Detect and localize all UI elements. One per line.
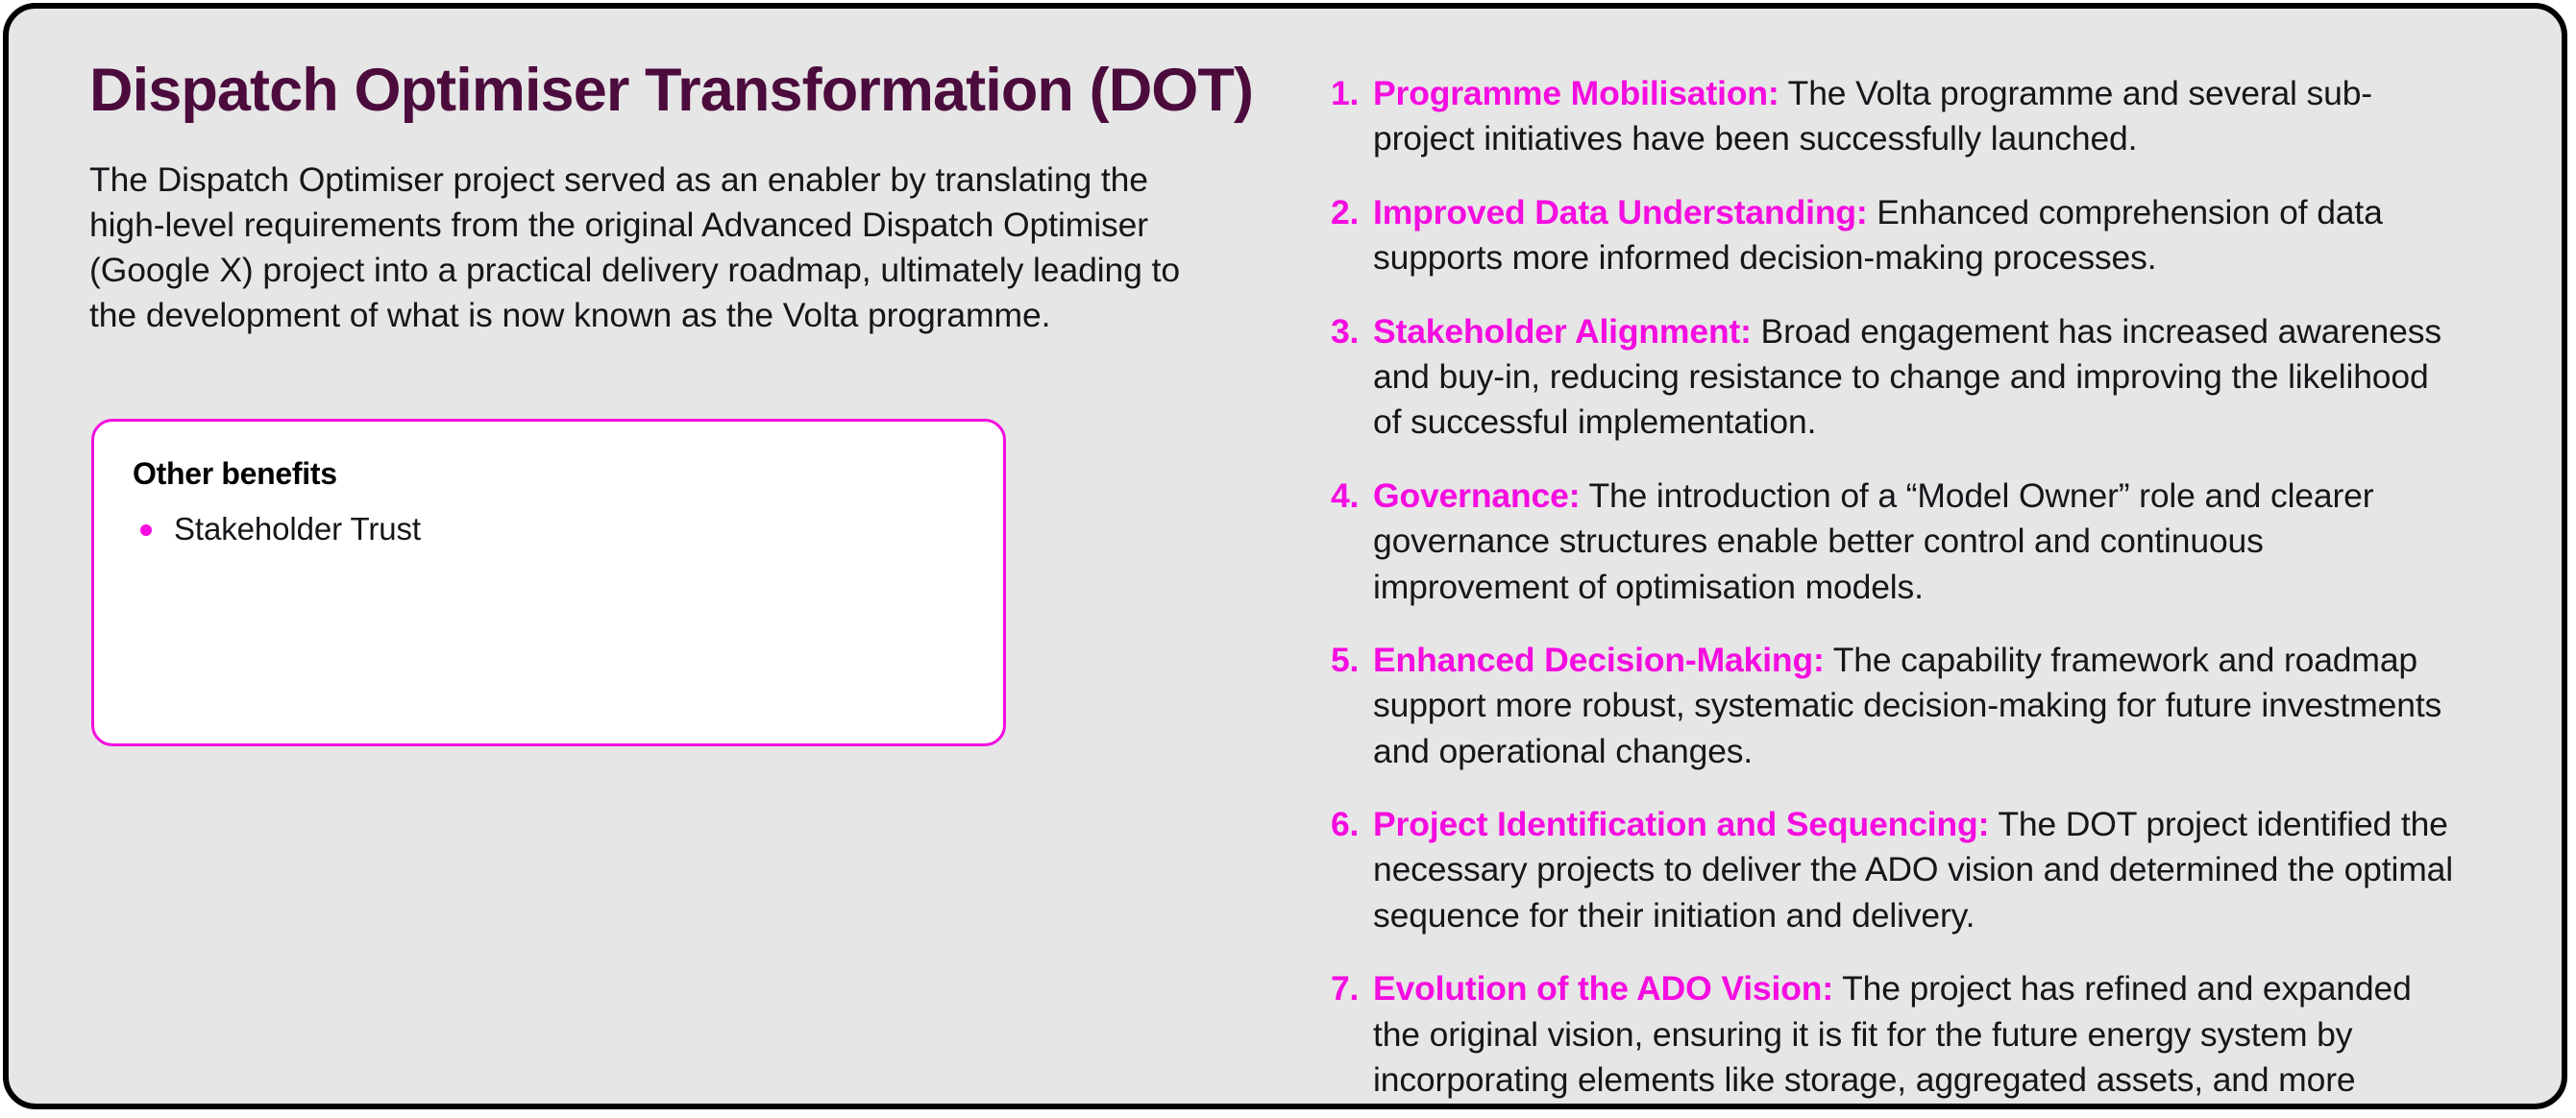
- list-item: 5. Enhanced Decision-Making: The capabil…: [1331, 638, 2466, 774]
- list-item-number: 3.: [1331, 309, 1373, 354]
- findings-list: 1. Programme Mobilisation: The Volta pro…: [1331, 71, 2466, 1109]
- list-item-label: Stakeholder Trust: [174, 511, 421, 547]
- list-item-text: Enhanced Decision-Making: The capability…: [1373, 638, 2466, 774]
- slide-body: Dispatch Optimiser Transformation (DOT) …: [9, 9, 2562, 1104]
- left-column: Dispatch Optimiser Transformation (DOT) …: [9, 9, 1306, 746]
- list-item-lead: Stakeholder Alignment:: [1373, 312, 1752, 351]
- list-item-text: Governance: The introduction of a “Model…: [1373, 474, 2466, 610]
- list-item: 7. Evolution of the ADO Vision: The proj…: [1331, 966, 2466, 1109]
- list-item: 2. Improved Data Understanding: Enhanced…: [1331, 190, 2466, 281]
- list-item: 1. Programme Mobilisation: The Volta pro…: [1331, 71, 2466, 162]
- list-item-text: Evolution of the ADO Vision: The project…: [1373, 966, 2466, 1109]
- slide-frame: Dispatch Optimiser Transformation (DOT) …: [3, 3, 2567, 1109]
- other-benefits-card: Other benefits Stakeholder Trust: [91, 419, 1006, 746]
- list-item: 4. Governance: The introduction of a “Mo…: [1331, 474, 2466, 610]
- list-item-text: Improved Data Understanding: Enhanced co…: [1373, 190, 2466, 281]
- list-item-text: Project Identification and Sequencing: T…: [1373, 802, 2466, 938]
- other-benefits-title: Other benefits: [133, 456, 965, 492]
- list-item-number: 4.: [1331, 474, 1373, 519]
- list-item-text: Programme Mobilisation: The Volta progra…: [1373, 71, 2466, 162]
- list-item: 6. Project Identification and Sequencing…: [1331, 802, 2466, 938]
- list-item-lead: Programme Mobilisation:: [1373, 74, 1779, 112]
- intro-paragraph: The Dispatch Optimiser project served as…: [89, 158, 1190, 339]
- bullet-dot-icon: [140, 524, 152, 536]
- right-column: 1. Programme Mobilisation: The Volta pro…: [1306, 9, 2562, 1109]
- list-item-lead: Project Identification and Sequencing:: [1373, 805, 1989, 843]
- list-item-number: 6.: [1331, 802, 1373, 847]
- list-item-number: 2.: [1331, 190, 1373, 235]
- list-item-number: 5.: [1331, 638, 1373, 683]
- list-item-text: Stakeholder Alignment: Broad engagement …: [1373, 309, 2466, 446]
- page-title: Dispatch Optimiser Transformation (DOT): [89, 59, 1248, 123]
- list-item-lead: Enhanced Decision-Making:: [1373, 641, 1825, 679]
- list-item: 3. Stakeholder Alignment: Broad engageme…: [1331, 309, 2466, 446]
- list-item-number: 7.: [1331, 966, 1373, 1011]
- list-item-number: 1.: [1331, 71, 1373, 116]
- list-item-lead: Improved Data Understanding:: [1373, 193, 1868, 231]
- other-benefits-list: Stakeholder Trust: [133, 509, 965, 550]
- list-item-lead: Governance:: [1373, 476, 1580, 515]
- list-item: Stakeholder Trust: [133, 509, 965, 550]
- list-item-lead: Evolution of the ADO Vision:: [1373, 969, 1833, 1008]
